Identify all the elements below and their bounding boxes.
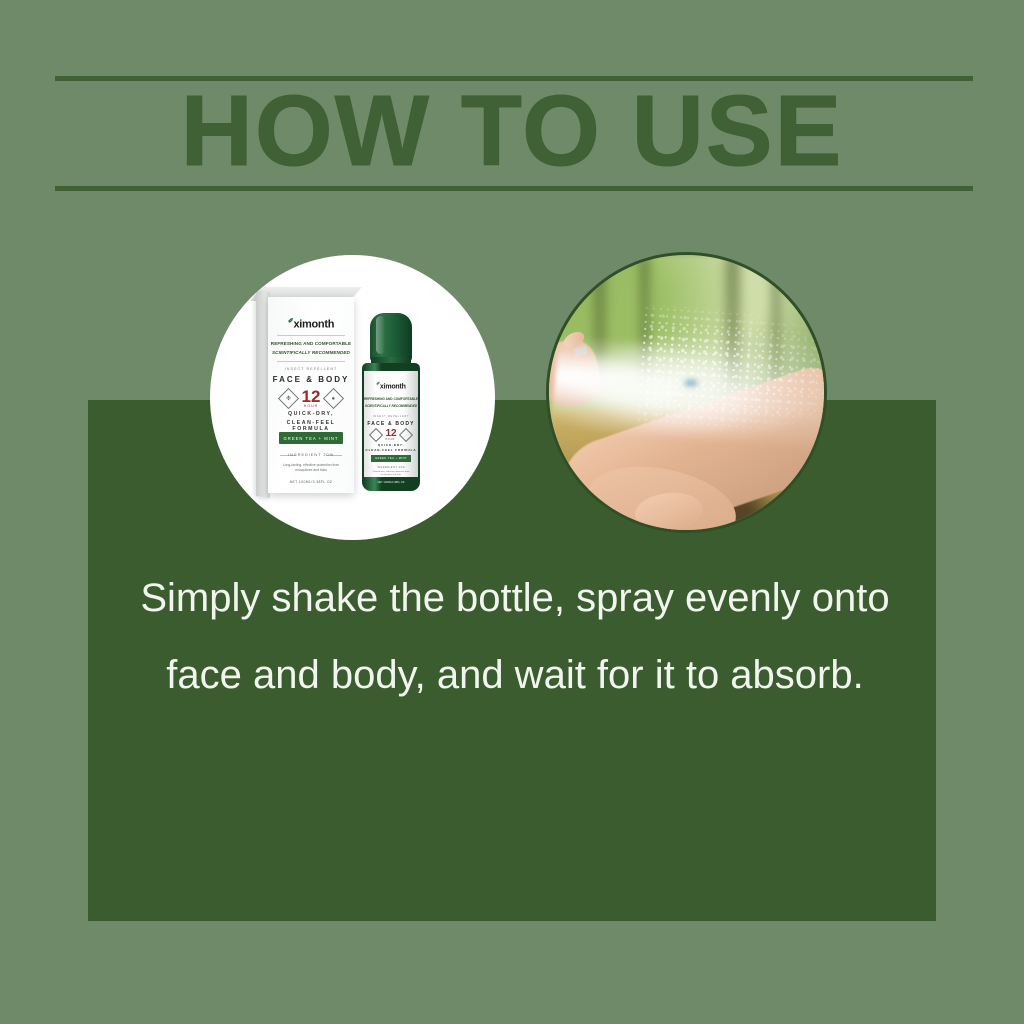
bottle-duration: 12 HOUR <box>385 429 396 441</box>
carton-formula-1: QUICK-DRY, <box>268 411 354 417</box>
bottle-use-area: FACE & BODY <box>364 421 418 427</box>
bottle-category: INSECT REPELLENT <box>364 415 418 418</box>
product-image-circle: Directions: Shake well before use. Spray… <box>210 255 495 540</box>
carton-duration-row: ❉ 12 HOUR ● <box>268 389 354 408</box>
bottle-ingredient: INGREDIENT 20% <box>364 466 418 469</box>
spray-application-photo <box>549 255 824 530</box>
bottle-claim-2: SCIENTIFICALLY RECOMMENDED <box>364 404 418 408</box>
bottle-formula-1: QUICK-DRY, <box>364 443 418 447</box>
product-bottle: ✐ximonth REFRESHING AND COMFORTABLE SCIE… <box>362 313 420 491</box>
application-photo-circle <box>546 252 827 533</box>
droplet-icon: ● <box>323 388 344 409</box>
bottle-claim-1: REFRESHING AND COMFORTABLE <box>364 397 418 401</box>
header-rule-bottom <box>55 186 973 191</box>
carton-use-area: FACE & BODY <box>268 375 354 384</box>
bottle-net-volume: NET 100ML/3.38FL.OZ <box>362 481 420 484</box>
product-scene: Directions: Shake well before use. Spray… <box>210 255 495 540</box>
bottle-duration-number: 12 <box>385 429 396 438</box>
carton-claim-2: SCIENTIFICALLY RECOMMENDED <box>268 350 354 355</box>
carton-claim-1: REFRESHING AND COMFORTABLE <box>268 341 354 346</box>
carton-divider-2 <box>277 361 345 362</box>
carton-duration: 12 HOUR <box>302 389 321 408</box>
poster-canvas: HOW TO USE Directions: Shake well before… <box>0 0 1024 1024</box>
bottle-duration-row: 12 HOUR <box>364 429 418 441</box>
carton-brand: ✐ximonth <box>268 317 354 331</box>
bottle-cap <box>370 313 412 361</box>
carton-category: INSECT REPELLENT <box>268 367 354 371</box>
carton-brand-text: ximonth <box>293 319 334 331</box>
bottle-label: ✐ximonth REFRESHING AND COMFORTABLE SCIE… <box>364 371 418 477</box>
bottle-scent-badge: GREEN TEA + MINT <box>371 455 411 462</box>
bottle-brand: ✐ximonth <box>364 381 418 390</box>
bottle-description: Long-lasting, effective protection from … <box>364 471 418 477</box>
carton-net-volume: NET 100ML/3.38FL.OZ <box>268 480 354 484</box>
bottle-formula-2: CLEAN-FEEL FORMULA <box>364 448 418 452</box>
bottle-leaf-icon <box>369 428 383 442</box>
bottle-brand-text: ximonth <box>380 383 406 390</box>
leaf-icon: ❉ <box>277 388 298 409</box>
carton-duration-unit: HOUR <box>302 404 321 408</box>
page-title: HOW TO USE <box>0 79 1024 183</box>
instructions-text: Simply shake the bottle, spray evenly on… <box>120 560 910 714</box>
carton-ingredient: INGREDIENT 20% <box>268 453 354 457</box>
carton-duration-number: 12 <box>302 389 321 404</box>
product-carton: ✐ximonth REFRESHING AND COMFORTABLE SCIE… <box>268 297 354 493</box>
carton-divider-1 <box>277 335 345 336</box>
carton-scent-badge: GREEN TEA + MINT <box>279 432 343 444</box>
photo-spray-droplets <box>635 304 824 438</box>
carton-description: Long-lasting, effective protection from … <box>268 463 354 473</box>
bottle-droplet-icon <box>398 428 412 442</box>
photo-blue-highlight <box>681 377 701 389</box>
bottle-body: ✐ximonth REFRESHING AND COMFORTABLE SCIE… <box>362 363 420 491</box>
header: HOW TO USE <box>0 0 1024 210</box>
carton-formula-2: CLEAN-FEEL FORMULA <box>268 420 354 432</box>
